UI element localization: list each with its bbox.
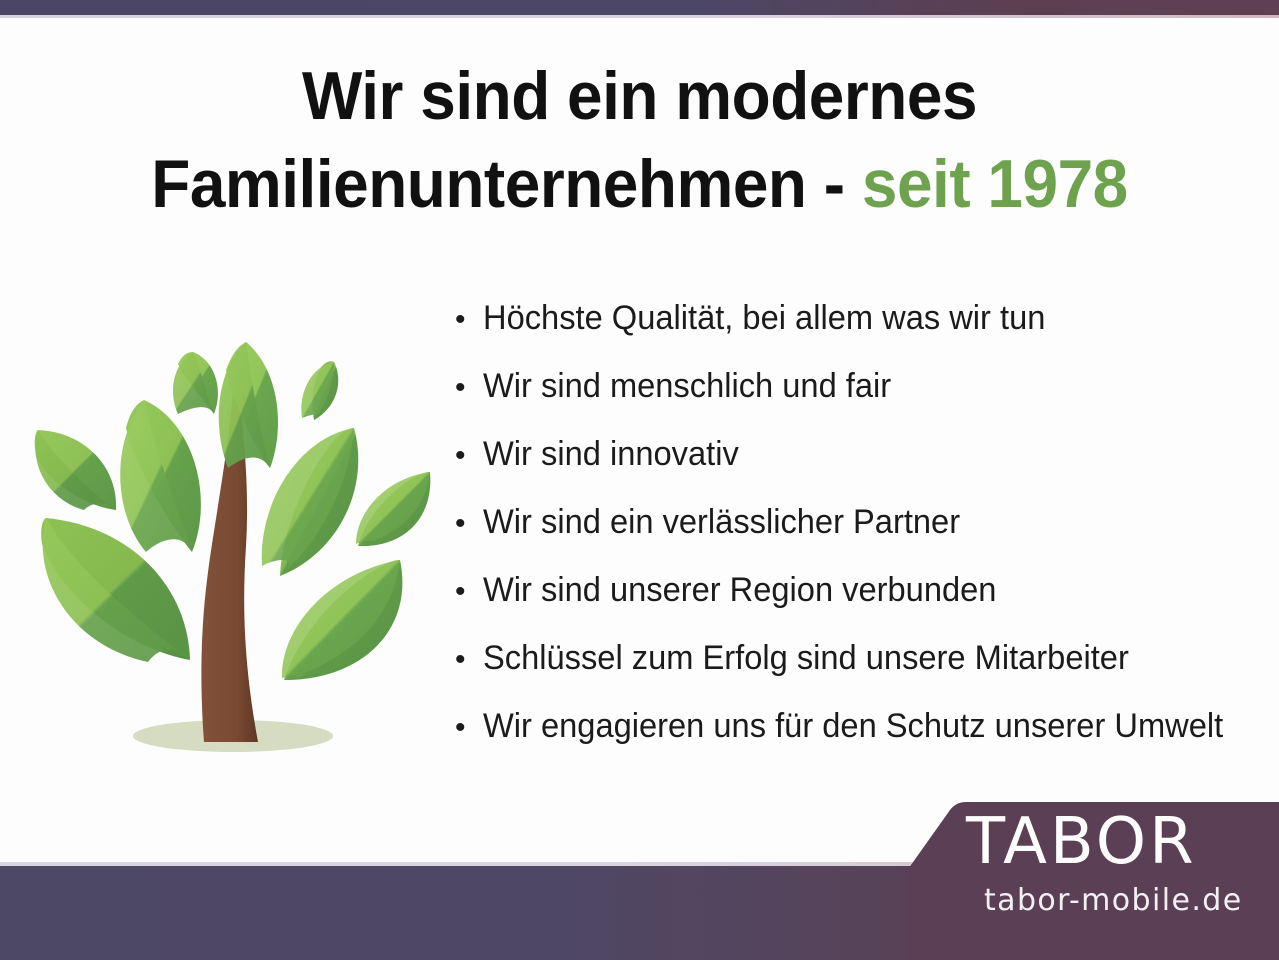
top-accent-underline [0, 15, 1279, 18]
list-item: • Wir engagieren uns für den Schutz unse… [455, 708, 1265, 776]
list-item: • Schlüssel zum Erfolg sind unsere Mitar… [455, 640, 1265, 708]
list-item-label: Wir sind innovativ [483, 436, 1234, 473]
page-title: Wir sind ein modernes Familienunternehme… [38, 52, 1240, 229]
list-item: • Wir sind menschlich und fair [455, 368, 1265, 436]
tree-leaf [282, 560, 402, 680]
tree-leaf [219, 342, 278, 468]
tree-icon [18, 330, 448, 770]
tree-leaf [262, 428, 359, 576]
top-accent-bar [0, 0, 1279, 15]
headline-accent-year: seit 1978 [862, 146, 1128, 222]
tree-leaf [120, 400, 201, 552]
headline-line-2: Familienunternehmen - seit 1978 [38, 140, 1240, 228]
list-item-label: Wir engagieren uns für den Schutz unsere… [483, 708, 1234, 745]
headline-line-2-prefix: Familienunternehmen - [151, 146, 862, 222]
bullet-marker-icon: • [455, 645, 483, 675]
brand-logo-text: TABOR tabor-mobile.de [898, 800, 1279, 960]
headline-line-1: Wir sind ein modernes [38, 52, 1240, 140]
list-item: • Höchste Qualität, bei allem was wir tu… [455, 300, 1265, 368]
list-item-label: Wir sind unserer Region verbunden [483, 572, 1234, 609]
list-item-label: Höchste Qualität, bei allem was wir tun [483, 300, 1234, 337]
brand-wordmark: TABOR [966, 810, 1197, 874]
bullet-marker-icon: • [455, 441, 483, 471]
tree-leaf [35, 430, 116, 510]
value-list: • Höchste Qualität, bei allem was wir tu… [455, 300, 1265, 776]
bullet-marker-icon: • [455, 577, 483, 607]
tree-leaf [301, 361, 338, 420]
list-item: • Wir sind unserer Region verbunden [455, 572, 1265, 640]
tree-illustration [18, 330, 448, 770]
brand-logo-panel: TABOR tabor-mobile.de [898, 800, 1279, 960]
tree-leaf [173, 352, 218, 414]
bullet-marker-icon: • [455, 509, 483, 539]
list-item-label: Schlüssel zum Erfolg sind unsere Mitarbe… [483, 640, 1234, 677]
tree-leaf [356, 472, 430, 546]
list-item: • Wir sind innovativ [455, 436, 1265, 504]
list-item-label: Wir sind ein verlässlicher Partner [483, 504, 1234, 541]
brand-website: tabor-mobile.de [984, 886, 1243, 916]
bullet-marker-icon: • [455, 713, 483, 743]
bullet-marker-icon: • [455, 305, 483, 335]
bullet-marker-icon: • [455, 373, 483, 403]
list-item-label: Wir sind menschlich und fair [483, 368, 1234, 405]
list-item: • Wir sind ein verlässlicher Partner [455, 504, 1265, 572]
slide-canvas: Wir sind ein modernes Familienunternehme… [0, 0, 1279, 960]
